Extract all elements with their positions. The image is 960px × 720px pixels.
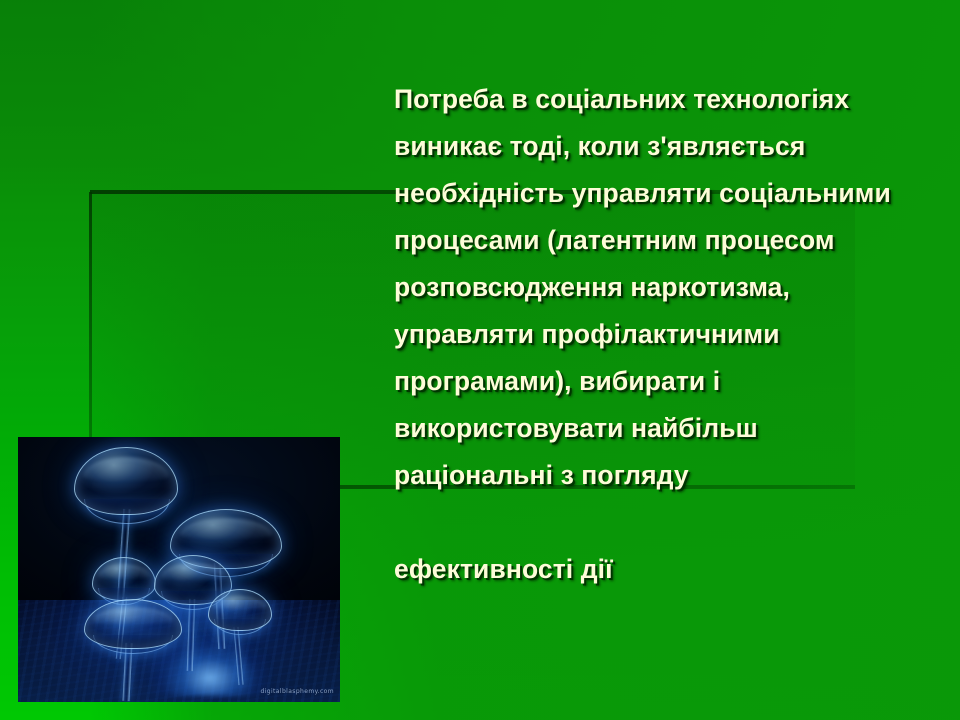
presentation-slide: digitalblasphemy.com Потреба в соціальни…: [0, 0, 960, 720]
mushroom-base-glow: [150, 636, 270, 696]
slide-body-text: Потреба в соціальних технологіях виникає…: [394, 76, 914, 593]
body-paragraph-2: ефективності дії: [394, 546, 914, 593]
image-watermark: digitalblasphemy.com: [261, 688, 335, 695]
body-paragraph-1: Потреба в соціальних технологіях виникає…: [394, 76, 914, 499]
mushroom-image: digitalblasphemy.com: [18, 437, 340, 702]
